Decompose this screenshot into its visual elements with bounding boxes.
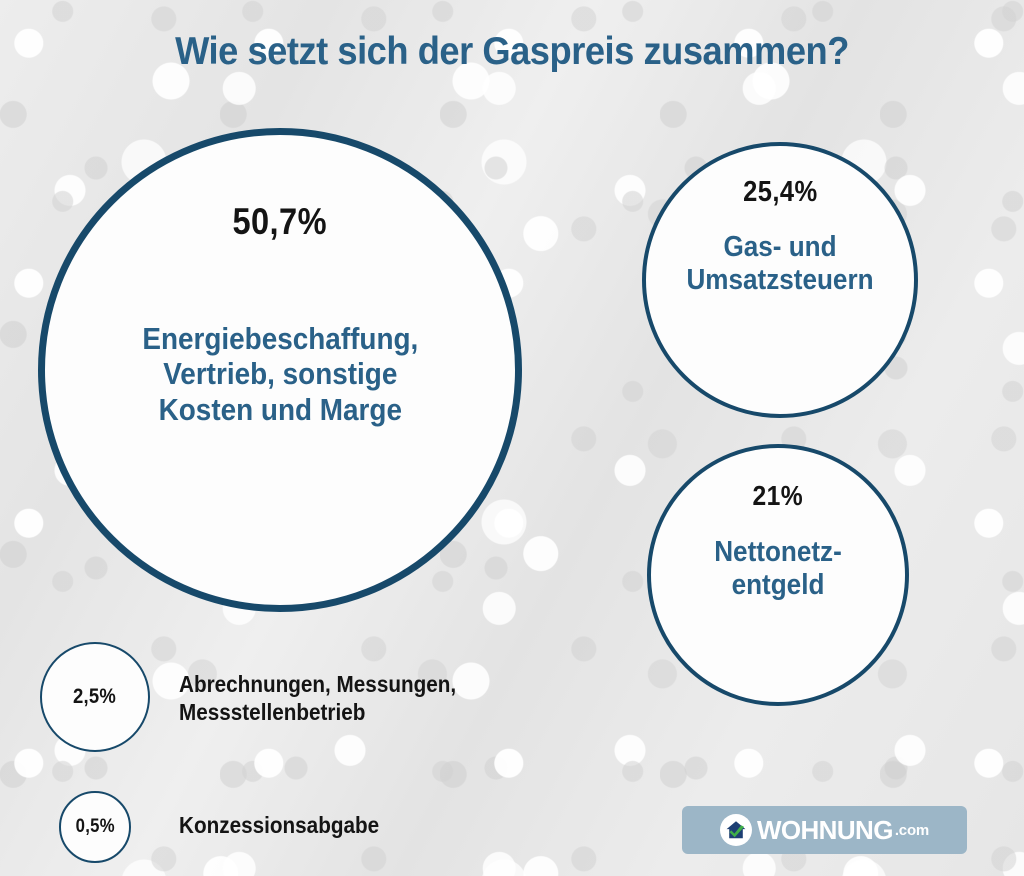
bubble-percent-value: 0,5%: [75, 816, 114, 838]
bubble-label-abrechnungen: Abrechnungen, Messungen, Messstellenbetr…: [179, 671, 456, 726]
bubble-gas-umsatzsteuern: 25,4% Gas- und Umsatzsteuern: [642, 142, 918, 418]
bubble-label: Gas- und Umsatzsteuern: [632, 231, 929, 297]
bubble-percent-value: 21%: [753, 480, 804, 512]
bubble-percent-value: 2,5%: [73, 685, 116, 709]
bubble-label: Nettonetz- entgeld: [670, 536, 886, 602]
bubble-label-konzessionsabgabe: Konzessionsabgabe: [179, 812, 379, 840]
bubble-energiebeschaffung: 50,7% Energiebeschaffung, Vertrieb, sons…: [38, 128, 522, 612]
logo-tld: .com: [895, 822, 929, 839]
page-title: Wie setzt sich der Gaspreis zusammen?: [36, 30, 988, 74]
bubble-label: Energiebeschaffung, Vertrieb, sonstige K…: [142, 321, 418, 427]
logo-wordmark: WOHNUNG: [757, 815, 893, 846]
bubble-abrechnungen: 2,5%: [40, 642, 150, 752]
bubble-nettonetzentgeld: 21% Nettonetz- entgeld: [647, 444, 909, 706]
house-check-icon: [720, 814, 752, 846]
bubble-percent-value: 25,4%: [743, 176, 818, 209]
wohnung-logo-badge[interactable]: WOHNUNG .com: [682, 806, 967, 854]
bubble-konzessionsabgabe: 0,5%: [59, 791, 131, 863]
infographic-canvas: Wie setzt sich der Gaspreis zusammen? 50…: [0, 0, 1024, 876]
bubble-percent-value: 50,7%: [233, 201, 328, 243]
